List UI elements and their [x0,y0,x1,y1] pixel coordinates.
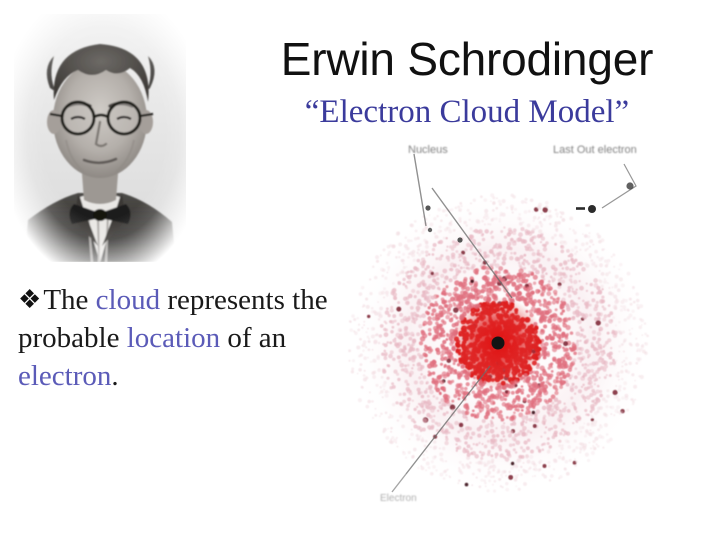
bullet-segment-4: of an [220,322,286,354]
bullet-text: The cloud represents the probable locati… [18,284,328,392]
slide-title: Erwin Schrodinger [252,33,682,85]
bullet-segment-1: cloud [96,284,160,316]
slide-subtitle: “Electron Cloud Model” [252,93,682,131]
bullet-segment-0: The [43,284,95,316]
schrodinger-portrait [14,14,186,262]
portrait-image [14,14,186,262]
figure-label-outer-electron: Last Out electron [553,144,637,156]
nucleus-dot [492,337,505,350]
slide-canvas: Erwin Schrodinger “Electron Cloud Model”… [0,0,720,540]
figure-label-nucleus: Nucleus [408,144,448,156]
bullet-segment-3: location [127,322,220,354]
electron-cloud-figure: Nucleus Last Out electron Electron [340,130,716,530]
outer-electron-marker-2 [626,182,633,189]
bullet-paragraph: ❖The cloud represents the probable locat… [18,281,328,395]
bullet-segment-5: electron [18,360,111,392]
outer-electron-marker-1 [576,205,596,213]
bullet-diamond-icon: ❖ [18,285,41,314]
figure-label-bottom: Electron [380,493,417,504]
bullet-segment-6: . [111,360,118,392]
